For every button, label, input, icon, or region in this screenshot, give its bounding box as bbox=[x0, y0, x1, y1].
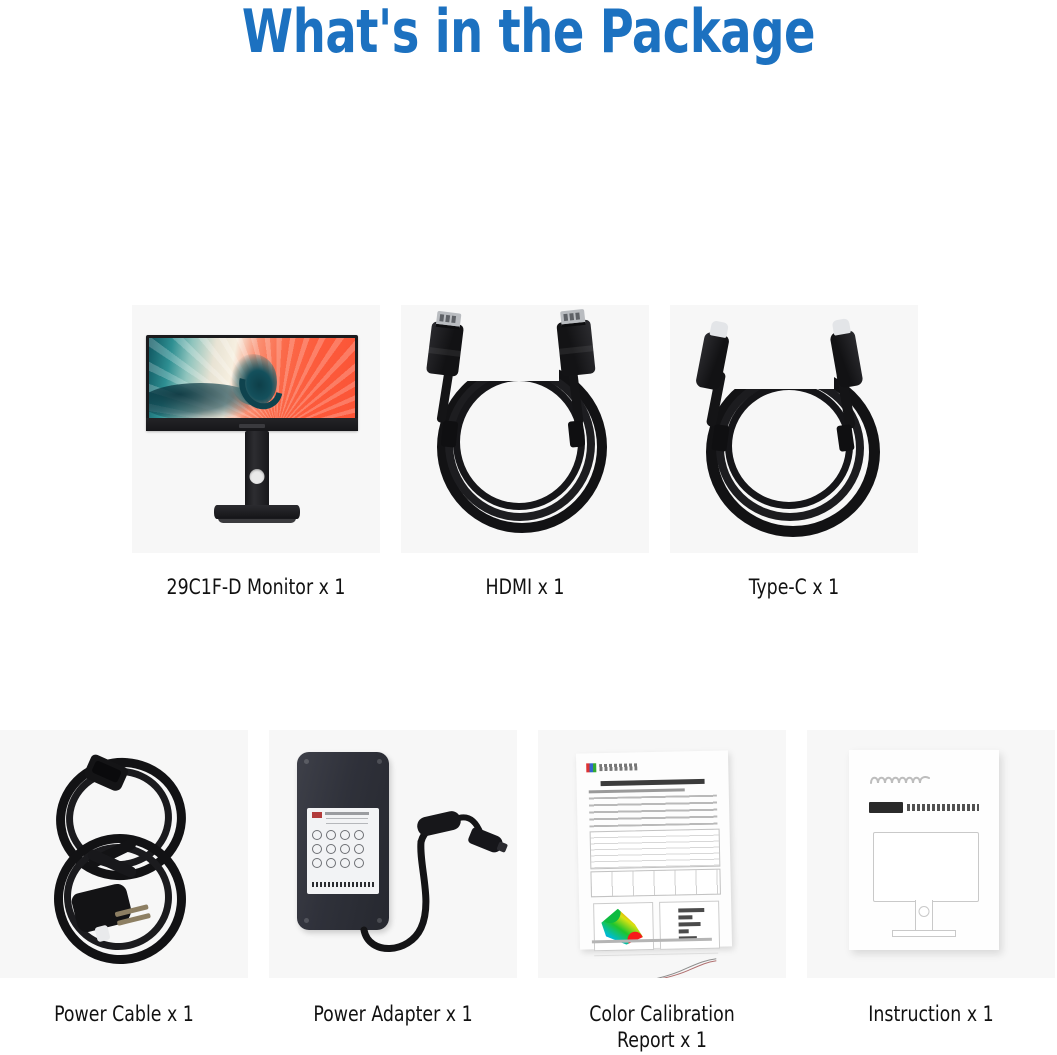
manual-subtitle-line bbox=[907, 804, 979, 811]
product-tile-power-adapter bbox=[269, 730, 517, 978]
cie-chromaticity-chart bbox=[593, 902, 654, 951]
caption-power-cable: Power Cable x 1 bbox=[10, 1001, 238, 1027]
monitor-panel bbox=[146, 335, 358, 431]
product-tile-hdmi bbox=[401, 305, 649, 553]
report-text-lines bbox=[589, 795, 718, 828]
hdmi-contact-pins-icon bbox=[560, 309, 586, 327]
innocn-logo-mark-icon bbox=[586, 763, 596, 772]
hdmi-connector-left bbox=[426, 321, 464, 377]
swirl-wallpaper bbox=[149, 338, 355, 418]
caption-power-adapter: Power Adapter x 1 bbox=[279, 1001, 507, 1027]
manual-monitor-outline bbox=[873, 832, 979, 902]
caption-instruction: Instruction x 1 bbox=[817, 1001, 1045, 1027]
typec-connector-left bbox=[695, 331, 730, 391]
monitor-illustration bbox=[146, 335, 368, 525]
report-title-line bbox=[601, 779, 705, 786]
instruction-manual-cover bbox=[849, 750, 999, 950]
caption-hdmi: HDMI x 1 bbox=[411, 574, 639, 600]
manual-monitor-base bbox=[892, 930, 956, 937]
product-tile-instruction bbox=[807, 730, 1055, 978]
hdmi-cable-illustration bbox=[401, 305, 649, 553]
product-tile-calibration-report bbox=[538, 730, 786, 978]
usb-c-tip-icon bbox=[709, 320, 729, 338]
package-contents-page: What's in the Package bbox=[0, 0, 1057, 1055]
adapter-dc-cord bbox=[269, 730, 517, 978]
hdmi-contact-pins-icon bbox=[436, 311, 462, 330]
caption-typec: Type-C x 1 bbox=[680, 574, 908, 600]
bar-chart bbox=[659, 901, 720, 950]
manual-model-badge bbox=[869, 802, 903, 813]
innocn-wordmark bbox=[599, 763, 637, 771]
product-tile-typec bbox=[670, 305, 918, 553]
report-table-secondary bbox=[590, 869, 721, 898]
page-title: What's in the Package bbox=[74, 0, 983, 66]
product-tile-monitor bbox=[132, 305, 380, 553]
cable-management-hole-icon bbox=[250, 469, 265, 484]
calibration-report-sheet bbox=[576, 750, 732, 949]
monitor-screen bbox=[149, 338, 355, 418]
product-tile-power-cable bbox=[0, 730, 248, 978]
hdmi-connector-right bbox=[556, 319, 595, 376]
report-subtitle-line bbox=[589, 788, 685, 793]
usb-c-tip-icon bbox=[831, 318, 850, 336]
power-cable-illustration bbox=[0, 730, 248, 978]
manual-cable-hole-icon bbox=[919, 906, 930, 917]
monitor-logo bbox=[239, 424, 265, 428]
typec-cable-illustration bbox=[670, 305, 918, 553]
monitor-chin bbox=[146, 418, 358, 431]
caption-monitor: 29C1F-D Monitor x 1 bbox=[142, 574, 370, 600]
innocn-wordmark-icon bbox=[869, 772, 931, 785]
gamma-curve-chart bbox=[594, 953, 719, 978]
report-table-primary bbox=[590, 829, 721, 870]
caption-calibration-report: Color Calibration Report x 1 bbox=[548, 1001, 776, 1053]
monitor-stand-base bbox=[214, 505, 300, 519]
